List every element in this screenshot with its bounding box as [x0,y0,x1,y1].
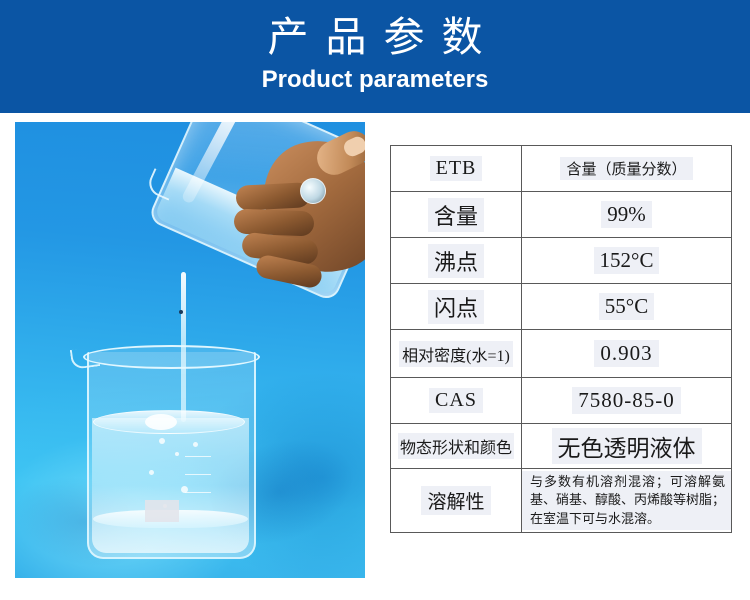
cell-text: ETB [430,156,483,181]
cell-text: 无色透明液体 [552,428,702,464]
table-row: 相对密度(水=1) 0.903 [391,330,732,378]
table-cell-value: 99% [522,192,732,238]
page-header-banner: 产品参数 Product parameters [0,0,750,113]
product-parameters-table: ETB 含量（质量分数） 含量 99% 沸点 [390,145,732,533]
photo-watermark-patch [145,500,179,522]
table-cell-key: 闪点 [391,284,522,330]
cell-text: 与多数有机溶剂混溶；可溶解氨基、硝基、醇酸、丙烯酸等树脂；在室温下可与水混溶。 [522,471,731,531]
table-row: ETB 含量（质量分数） [391,146,732,192]
bubble [193,442,198,447]
cell-text: 溶解性 [421,486,490,515]
table-row: 沸点 152°C [391,238,732,284]
splash [145,414,177,430]
table-cell-value: 与多数有机溶剂混溶；可溶解氨基、硝基、醇酸、丙烯酸等树脂；在室温下可与水混溶。 [522,469,732,533]
table-cell-key: CAS [391,378,522,424]
table-cell-key: ETB [391,146,522,192]
cell-text: 闪点 [428,290,484,324]
cell-text: 相对密度(水=1) [399,341,513,367]
bubble [159,438,165,444]
bubble [175,452,179,456]
receiving-beaker-liquid [92,418,249,553]
table-cell-value: 152°C [522,238,732,284]
table-row: 物态形状和颜色 无色透明液体 [391,424,732,469]
bubble [149,470,154,475]
page-title-english: Product parameters [0,61,750,94]
graduation-mark [185,474,211,475]
receiving-beaker-glass [87,352,256,559]
finger-middle [234,209,315,237]
table-row: 溶解性 与多数有机溶剂混溶；可溶解氨基、硝基、醇酸、丙烯酸等树脂；在室温下可与水… [391,469,732,533]
table-cell-key: 沸点 [391,238,522,284]
table-cell-value: 7580-85-0 [522,378,732,424]
table-cell-key: 溶解性 [391,469,522,533]
cell-text: CAS [429,388,483,413]
bubble [181,486,188,493]
receiving-beaker-spout [70,346,101,370]
finger-index [235,182,310,211]
table-row: CAS 7580-85-0 [391,378,732,424]
table-cell-value: 0.903 [522,330,732,378]
table-cell-value: 55°C [522,284,732,330]
table-row: 含量 99% [391,192,732,238]
graduation-mark [185,456,211,457]
table-cell-key: 含量 [391,192,522,238]
product-photo [15,122,365,578]
table-cell-key: 物态形状和颜色 [391,424,522,469]
cell-text: 55°C [599,293,654,320]
graduation-mark [185,492,211,493]
receiving-beaker-rim [83,345,260,369]
page-title-chinese: 产品参数 [0,0,750,61]
beaker-cap-knob [300,178,326,204]
cell-text: 99% [601,201,652,228]
cell-text: 152°C [594,247,660,274]
cell-text: 含量（质量分数） [560,157,692,180]
table-row: 闪点 55°C [391,284,732,330]
cell-text: 7580-85-0 [572,387,681,414]
receiving-beaker [87,352,252,562]
cell-text: 沸点 [428,244,484,278]
cell-text: 含量 [428,198,484,232]
cell-text: 0.903 [594,340,658,367]
content-area: ETB 含量（质量分数） 含量 99% 沸点 [0,116,750,600]
cell-text: 物态形状和颜色 [398,433,514,459]
hand-holding-beaker [220,132,365,322]
table-cell-key: 相对密度(水=1) [391,330,522,378]
product-parameters-table-wrap: ETB 含量（质量分数） 含量 99% 沸点 [390,145,731,533]
liquid-stream-droplet [179,310,183,314]
product-photo-frame [15,122,365,578]
table-cell-value: 含量（质量分数） [522,146,732,192]
table-cell-value: 无色透明液体 [522,424,732,469]
